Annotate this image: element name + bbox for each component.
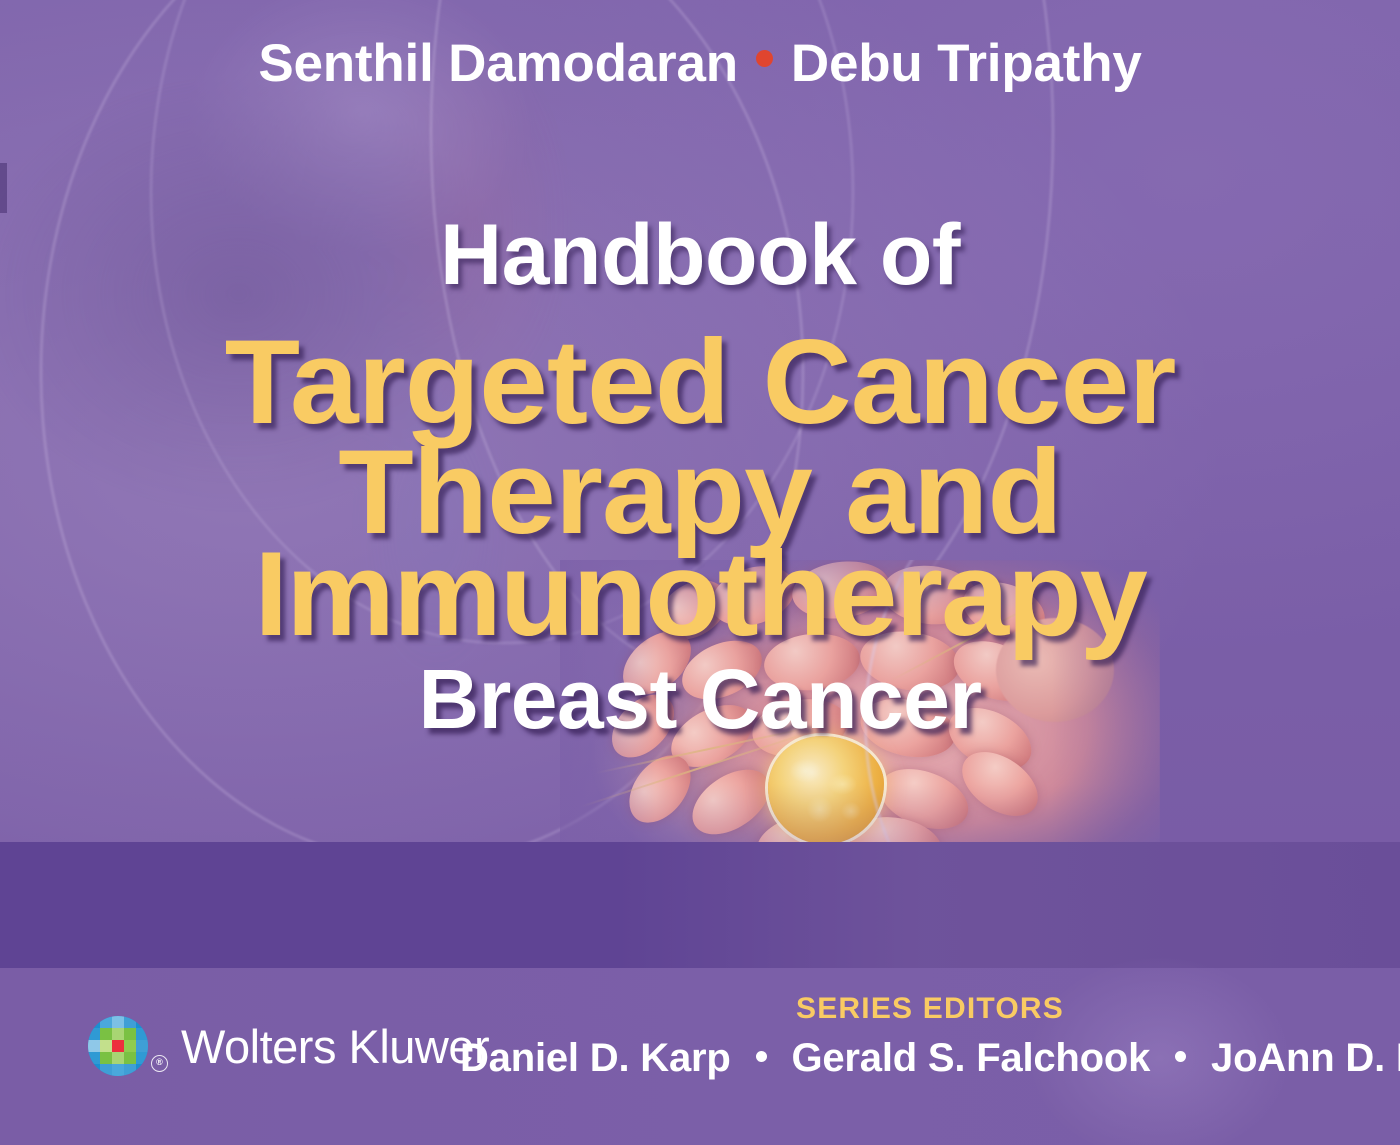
- editor-separator-dot-icon: [756, 50, 773, 67]
- publisher-name: Wolters Kluwer: [181, 1023, 489, 1070]
- series-editors-label: SERIES EDITORS: [460, 992, 1400, 1026]
- editor-name-1: Senthil Damodaran: [258, 33, 738, 94]
- book-cover: Handbook of Targeted Cancer Therapy and …: [0, 0, 1400, 1145]
- editor-name-2: Debu Tripathy: [791, 33, 1142, 94]
- series-editor-2: Gerald S. Falchook: [791, 1036, 1150, 1080]
- handbook-prefix: Handbook of: [0, 212, 1400, 298]
- series-editor-separator-dot-icon: [756, 1051, 767, 1062]
- registered-trademark-icon: ®: [151, 1055, 168, 1072]
- series-editor-separator-dot-icon: [1175, 1051, 1186, 1062]
- editors-row: Senthil Damodaran Debu Tripathy: [0, 0, 1400, 126]
- wolters-kluwer-logo: ® Wolters Kluwer: [88, 1016, 489, 1076]
- series-editors-block: SERIES EDITORS Daniel D. Karp Gerald S. …: [460, 992, 1400, 1081]
- title-line-1: Targeted Cancer: [0, 322, 1400, 442]
- editors-band: [0, 842, 1400, 968]
- editors-band-veil: [0, 842, 1400, 968]
- title-line-3: Immunotherapy: [0, 534, 1400, 654]
- wolters-kluwer-globe-icon: [88, 1016, 148, 1076]
- logo-mosaic-grid: [88, 1016, 148, 1076]
- cover-subtitle: Breast Cancer: [0, 657, 1400, 741]
- series-editor-1: Daniel D. Karp: [460, 1036, 731, 1080]
- series-editors-names: Daniel D. Karp Gerald S. Falchook JoAnn …: [460, 1036, 1400, 1081]
- left-edge-strip: [0, 163, 7, 213]
- series-editor-3: JoAnn D. Lim: [1211, 1036, 1400, 1080]
